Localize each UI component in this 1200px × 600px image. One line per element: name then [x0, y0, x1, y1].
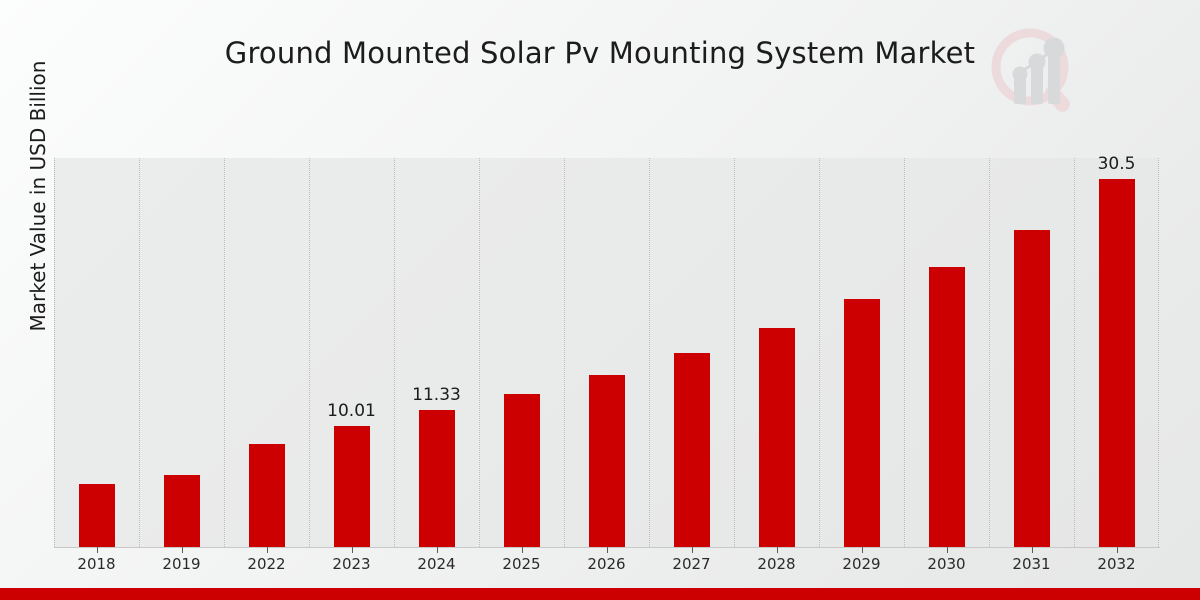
tick-mark-2026: [607, 547, 608, 553]
tick-mark-2023: [352, 547, 353, 553]
gridline: [819, 158, 820, 547]
bar-2027[interactable]: [674, 353, 710, 548]
bar-2031[interactable]: [1014, 230, 1050, 547]
bar-2026[interactable]: [589, 375, 625, 547]
tick-mark-2029: [862, 547, 863, 553]
x-tick-label-2029: 2029: [842, 555, 880, 573]
tick-mark-2032: [1117, 547, 1118, 553]
gridline: [989, 158, 990, 547]
x-tick-label-2022: 2022: [247, 555, 285, 573]
bar-2019[interactable]: [164, 475, 200, 547]
x-tick-label-2023: 2023: [332, 555, 370, 573]
x-tick-label-2027: 2027: [672, 555, 710, 573]
tick-mark-2031: [1032, 547, 1033, 553]
gridline: [224, 158, 225, 547]
bar-2022[interactable]: [249, 444, 285, 547]
gridline: [904, 158, 905, 547]
bar-2024[interactable]: [419, 410, 455, 547]
x-tick-label-2025: 2025: [502, 555, 540, 573]
gridline: [734, 158, 735, 547]
x-tick-label-2028: 2028: [757, 555, 795, 573]
tick-mark-2028: [777, 547, 778, 553]
bar-2025[interactable]: [504, 394, 540, 547]
bar-value-label-2032: 30.5: [1098, 154, 1136, 174]
gridline: [479, 158, 480, 547]
gridline: [394, 158, 395, 547]
x-tick-label-2019: 2019: [162, 555, 200, 573]
bar-2028[interactable]: [759, 328, 795, 547]
tick-mark-2022: [267, 547, 268, 553]
x-tick-label-2031: 2031: [1012, 555, 1050, 573]
magnifier-bar-chart-logo-icon: [984, 22, 1088, 126]
gridline: [564, 158, 565, 547]
footer-accent-band: [0, 588, 1200, 600]
x-tick-label-2030: 2030: [927, 555, 965, 573]
tick-mark-2024: [437, 547, 438, 553]
bar-2030[interactable]: [929, 267, 965, 547]
bar-value-label-2023: 10.01: [327, 401, 376, 421]
bar-value-label-2024: 11.33: [412, 385, 461, 405]
tick-mark-2019: [182, 547, 183, 553]
gridline: [649, 158, 650, 547]
gridline: [139, 158, 140, 547]
bar-2032[interactable]: [1099, 179, 1135, 547]
bar-2018[interactable]: [79, 484, 115, 547]
tick-mark-2025: [522, 547, 523, 553]
y-axis-label: Market Value in USD Billion: [26, 0, 50, 396]
tick-mark-2030: [947, 547, 948, 553]
gridline: [1074, 158, 1075, 547]
bar-2029[interactable]: [844, 299, 880, 547]
tick-mark-2018: [97, 547, 98, 553]
tick-mark-2027: [692, 547, 693, 553]
bar-2023[interactable]: [334, 426, 370, 547]
x-tick-label-2026: 2026: [587, 555, 625, 573]
gridline: [309, 158, 310, 547]
x-tick-label-2018: 2018: [77, 555, 115, 573]
chart-figure: Ground Mounted Solar Pv Mounting System …: [0, 0, 1200, 600]
x-tick-label-2024: 2024: [417, 555, 455, 573]
x-tick-label-2032: 2032: [1097, 555, 1135, 573]
